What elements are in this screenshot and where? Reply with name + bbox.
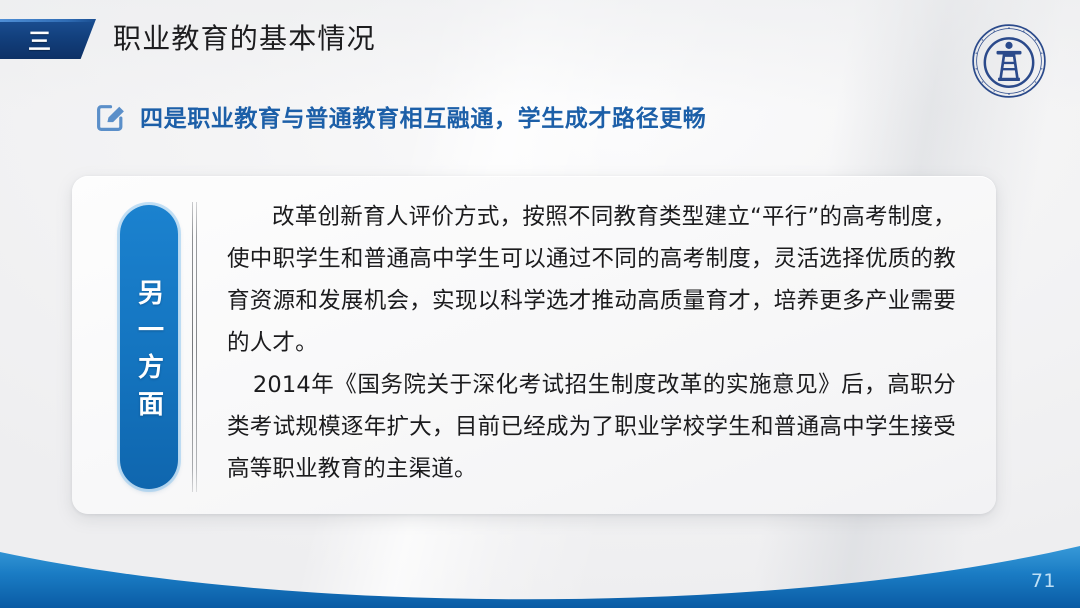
- slide-footer: 71: [0, 538, 1080, 608]
- subtitle-row: 四是职业教育与普通教育相互融通，学生成才路径更畅: [94, 99, 706, 133]
- page-title: 职业教育的基本情况: [113, 19, 376, 59]
- vertical-divider-line-1: [192, 202, 193, 492]
- paragraph: 改革创新育人评价方式，按照不同教育类型建立“平行”的高考制度，使中职学生和普通高…: [227, 196, 956, 364]
- edit-document-icon: [94, 100, 127, 133]
- vertical-divider-line-2: [196, 202, 197, 492]
- subtitle-text: 四是职业教育与普通教育相互融通，学生成才路径更畅: [140, 99, 706, 133]
- side-tab-another-aspect: 另一方面: [120, 205, 178, 489]
- section-number: 三: [0, 19, 80, 59]
- content-card: 另一方面 改革创新育人评价方式，按照不同教育类型建立“平行”的高考制度，使中职学…: [72, 176, 996, 514]
- paragraph: 2014年《国务院关于深化考试招生制度改革的实施意见》后，高职分类考试规模逐年扩…: [227, 364, 956, 490]
- body-text: 改革创新育人评价方式，按照不同教育类型建立“平行”的高考制度，使中职学生和普通高…: [227, 196, 956, 490]
- page-number: 71: [1031, 570, 1056, 592]
- slide: 三 职业教育的基本情况: [0, 0, 1080, 608]
- side-tab-label: 另一方面: [131, 268, 168, 427]
- ministry-of-education-emblem-icon: [970, 22, 1048, 100]
- slide-header: 三 职业教育的基本情况: [0, 0, 1080, 92]
